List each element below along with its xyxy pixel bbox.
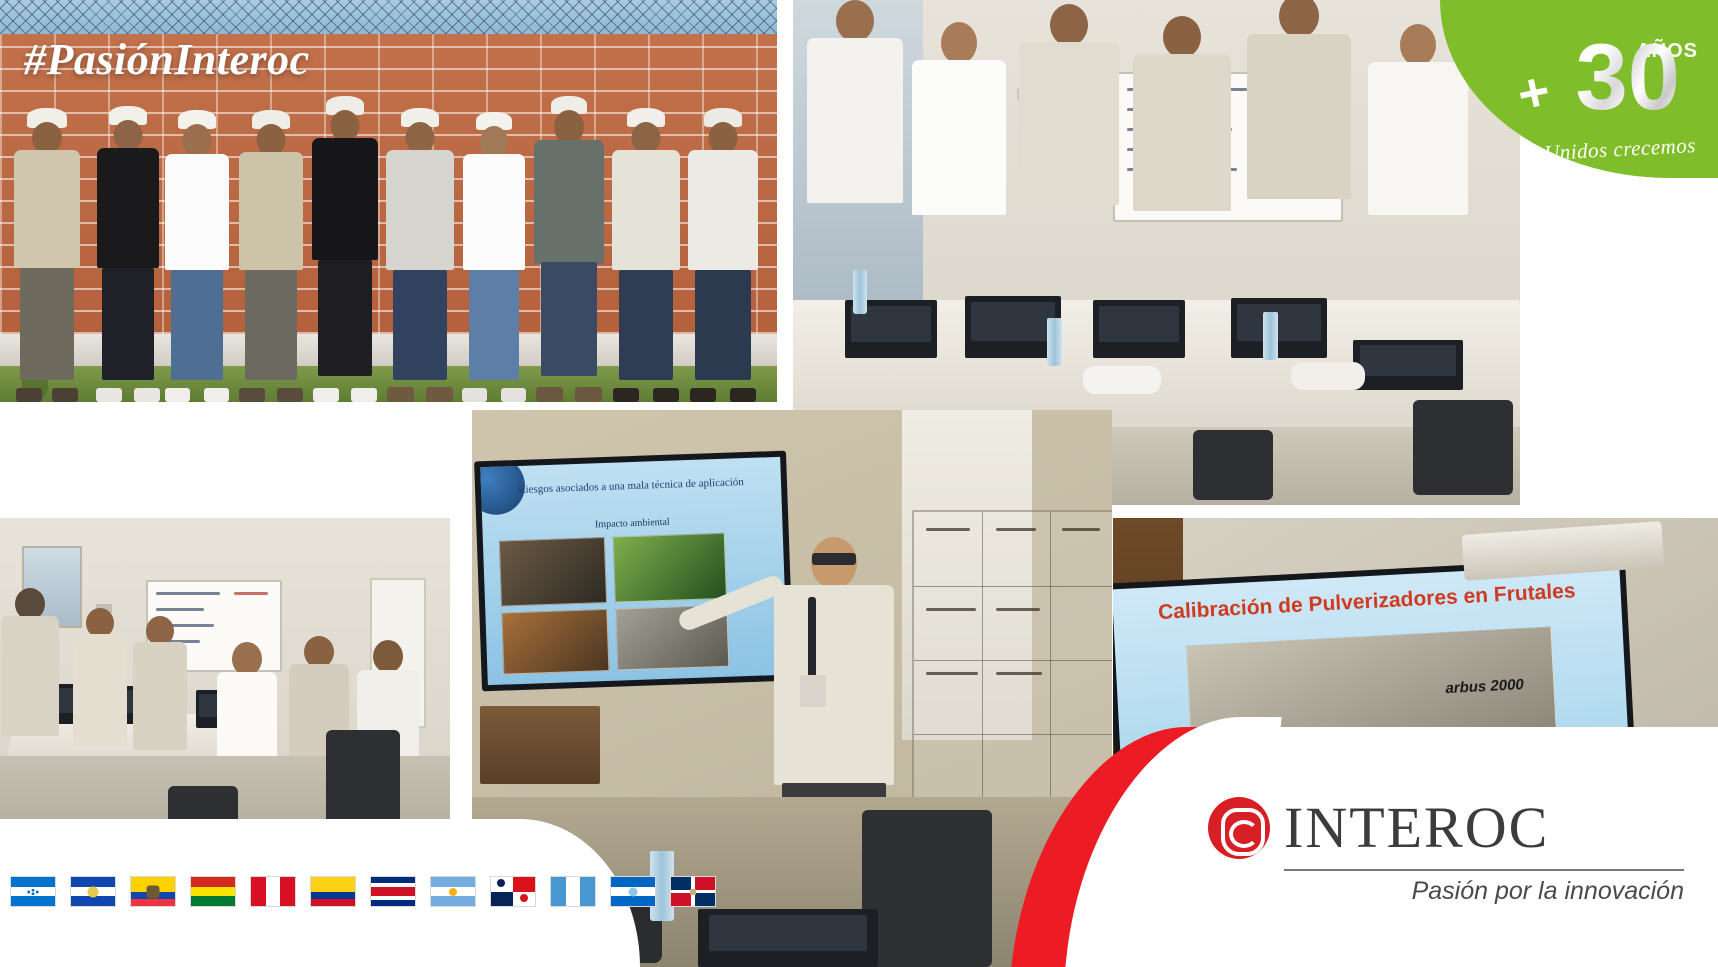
flag-bolivia <box>190 876 236 907</box>
person <box>606 102 686 402</box>
flag-dominican-republic <box>670 876 716 907</box>
interoc-wordmark: INTEROC <box>1284 799 1549 857</box>
flag-argentina <box>430 876 476 907</box>
person <box>682 102 764 402</box>
logo-divider <box>1284 869 1684 871</box>
hashtag-overlay: #PasiónInteroc <box>24 34 310 85</box>
person <box>528 96 610 402</box>
slide-image-bee <box>499 537 607 607</box>
laptop <box>1231 298 1327 358</box>
flag-peru <box>250 876 296 907</box>
person <box>1243 0 1355 300</box>
slide-subtitle-impact: Impacto ambiental <box>494 513 770 534</box>
badge-plus-sign: + <box>1512 59 1556 126</box>
office-chair <box>1413 400 1513 495</box>
slide-title-risks: Riesgos asociados a una mala técnica de … <box>493 475 769 497</box>
id-badge <box>800 675 826 707</box>
person <box>306 96 384 402</box>
person <box>456 102 532 402</box>
person <box>90 102 166 402</box>
slide-image-snake <box>613 533 727 603</box>
badge-tagline: Unidos crecemos <box>1544 133 1697 166</box>
person <box>232 102 310 402</box>
logo-panel: INTEROC Pasión por la innovación <box>1098 727 1718 967</box>
person <box>158 102 236 402</box>
interoc-logo: INTEROC Pasión por la innovación <box>1208 797 1684 906</box>
flag-panama <box>490 876 536 907</box>
laptop <box>1093 300 1185 358</box>
water-bottle <box>1263 312 1278 360</box>
presentation-tv: Riesgos asociados a una mala técnica de … <box>474 451 794 692</box>
photo-group-brick-wall: #PasiónInteroc <box>0 0 777 402</box>
laptop <box>1353 340 1463 390</box>
person <box>909 10 1009 300</box>
flag-ecuador <box>130 876 176 907</box>
office-chair <box>1193 430 1273 500</box>
flag-costa-rica <box>370 876 416 907</box>
person <box>1129 6 1235 300</box>
person <box>1015 0 1123 300</box>
badge-number: 30 <box>1575 30 1680 124</box>
person <box>132 616 188 752</box>
flags-panel <box>0 819 640 967</box>
person <box>72 608 128 748</box>
water-bottle <box>1047 318 1062 366</box>
flag-nicaragua <box>610 876 656 907</box>
cap-on-table <box>1083 366 1161 394</box>
photo-training-session <box>0 518 450 848</box>
whiteboard-grid <box>912 510 1112 810</box>
water-bottle <box>853 270 867 314</box>
collage-canvas: #PasiónInteroc <box>0 0 1718 967</box>
country-flags-row <box>10 876 716 907</box>
person <box>8 102 86 402</box>
slide-title-calibration: Calibración de Pulverizadores en Frutale… <box>1128 578 1606 627</box>
person <box>803 0 907 300</box>
flag-honduras <box>10 876 56 907</box>
flag-guatemala <box>550 876 596 907</box>
anniversary-badge: AÑOS 30 + Unidos crecemos <box>1440 0 1718 178</box>
laptop <box>698 909 878 967</box>
cap-on-table <box>1291 362 1365 390</box>
person <box>0 588 60 738</box>
person <box>380 102 460 402</box>
flag-colombia <box>310 876 356 907</box>
flag-el-salvador <box>70 876 116 907</box>
interoc-at-mark-icon <box>1208 797 1270 859</box>
glasses-icon <box>812 553 856 565</box>
lanyard <box>808 597 816 677</box>
logo-tagline: Pasión por la innovación <box>1208 877 1684 906</box>
office-chair <box>862 810 992 967</box>
slide-image-worker <box>501 609 609 675</box>
wooden-cabinet <box>480 706 600 784</box>
